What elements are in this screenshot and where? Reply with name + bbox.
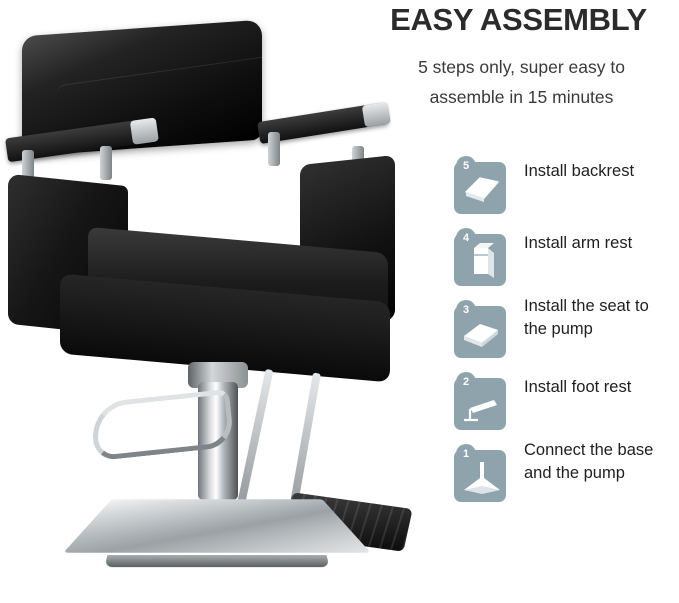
step-3-label: Install the seat to the pump	[524, 295, 679, 341]
left-armrest-post-2	[100, 146, 112, 180]
base-plate-edge	[104, 555, 329, 567]
step-list: 5 Install backrest 4 Install arm rest	[454, 152, 679, 512]
subheadline-line-2: assemble in 15 minutes	[364, 82, 679, 112]
product-infographic: EASY ASSEMBLY 5 steps only, super easy t…	[0, 0, 679, 603]
step-1-number: 1	[456, 444, 476, 464]
step-1-label: Connect the base and the pump	[524, 439, 679, 485]
step-1-label-line-1: Connect the base	[524, 441, 653, 459]
step-item-3: 3 Install the seat to the pump	[454, 296, 679, 368]
step-3-badge: 3	[454, 306, 506, 358]
step-2-label: Install foot rest	[524, 376, 679, 399]
step-5-badge: 5	[454, 162, 506, 214]
step-1-label-line-2: and the pump	[524, 464, 625, 482]
product-photo	[0, 0, 358, 603]
step-5-number: 5	[456, 156, 476, 176]
step-5-label: Install backrest	[524, 160, 679, 183]
step-item-1: 1 Connect the base and the pump	[454, 440, 679, 512]
subheadline-line-1: 5 steps only, super easy to	[418, 57, 625, 77]
subheadline: 5 steps only, super easy to assemble in …	[364, 52, 679, 112]
step-2-number: 2	[456, 372, 476, 392]
step-item-5: 5 Install backrest	[454, 152, 679, 224]
step-item-2: 2 Install foot rest	[454, 368, 679, 440]
step-item-4: 4 Install arm rest	[454, 224, 679, 296]
left-armrest-chrome-cap	[130, 117, 159, 144]
step-3-label-line-1: Install the seat to	[524, 297, 649, 315]
info-panel: EASY ASSEMBLY 5 steps only, super easy t…	[358, 0, 679, 603]
backrest-stitching	[56, 55, 271, 178]
step-3-label-line-2: the pump	[524, 320, 593, 338]
chair-base-plate	[92, 466, 342, 596]
step-4-number: 4	[456, 228, 476, 248]
step-1-badge: 1	[454, 450, 506, 502]
headline: EASY ASSEMBLY	[358, 2, 679, 38]
base-plate-top	[63, 499, 370, 553]
step-3-number: 3	[456, 300, 476, 320]
step-4-badge: 4	[454, 234, 506, 286]
step-2-badge: 2	[454, 378, 506, 430]
step-4-label: Install arm rest	[524, 232, 679, 255]
right-armrest-post	[268, 132, 280, 166]
